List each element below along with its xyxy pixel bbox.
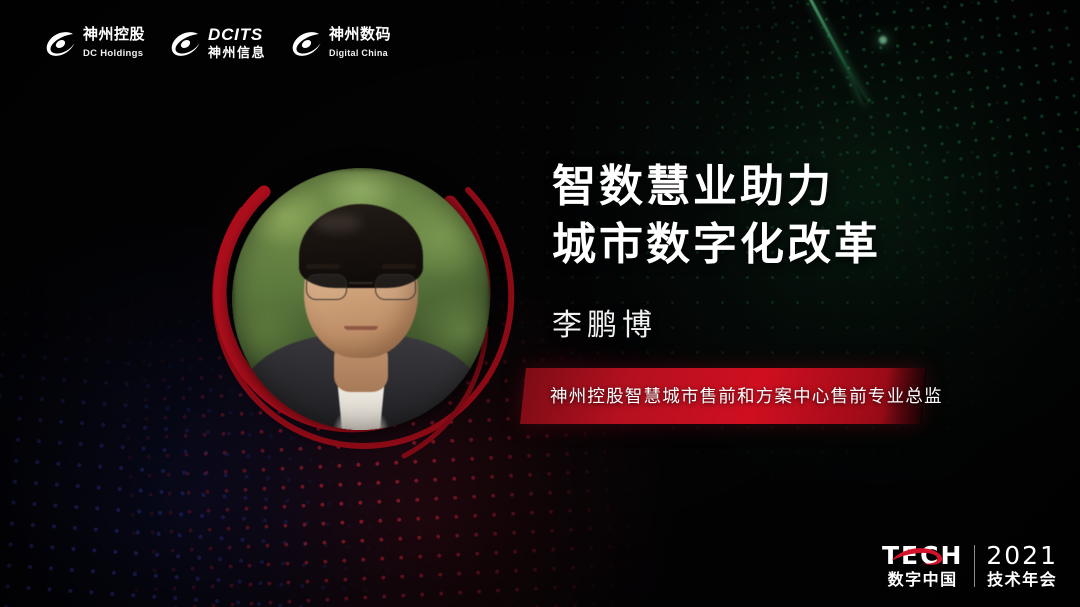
event-tech-text: TECH [882, 541, 963, 570]
event-tech-sub: 数字中国 [882, 573, 963, 589]
talk-title: 智数慧业助力 城市数字化改革 [552, 158, 1022, 274]
event-year: 2021 [986, 543, 1058, 568]
speaker-name: 李鹏博 [552, 300, 1022, 344]
event-logo-left: TECH 数字中国 [882, 543, 963, 589]
swirl-icon [46, 31, 76, 57]
event-logo-divider [974, 545, 975, 587]
photo-soft-overlay [232, 168, 490, 430]
logo-en-label: Digital China [329, 48, 388, 58]
speaker-portrait-block [168, 118, 528, 490]
logo-dc-holdings: 神州控股 DC Holdings [46, 27, 145, 61]
logo-en-label: 神州信息 [208, 45, 266, 60]
swirl-icon [292, 31, 322, 57]
swirl-icon [171, 31, 201, 57]
logo-en-label: DC Holdings [83, 48, 143, 59]
presentation-slide: 神州控股 DC Holdings DCITS 神州信息 [0, 0, 1080, 607]
event-year-sub: 技术年会 [986, 573, 1058, 589]
green-light-streak [808, 0, 867, 104]
logo-cn-label: 神州控股 [83, 26, 145, 43]
logo-dc-holdings-text: 神州控股 DC Holdings [83, 27, 145, 61]
logo-dcits: DCITS 神州信息 [171, 26, 266, 62]
talk-text-block: 智数慧业助力 城市数字化改革 李鹏博 [552, 158, 1022, 344]
event-tech-word: TECH [882, 543, 963, 568]
speaker-role: 神州控股智慧城市售前和方案中心售前专业总监 [550, 383, 1020, 408]
event-logo: TECH 数字中国 2021 技术年会 [882, 543, 1058, 589]
sponsor-logo-bar: 神州控股 DC Holdings DCITS 神州信息 [46, 26, 391, 62]
logo-digital-china-text: 神州数码 Digital China [329, 27, 391, 61]
logo-digital-china: 神州数码 Digital China [292, 27, 391, 61]
speaker-photo [232, 168, 490, 430]
logo-cn-label: 神州数码 [329, 26, 391, 43]
green-light-dot [879, 36, 887, 44]
event-logo-right: 2021 技术年会 [986, 543, 1058, 589]
logo-cn-label: DCITS [208, 25, 263, 44]
logo-dcits-text: DCITS 神州信息 [208, 26, 266, 62]
